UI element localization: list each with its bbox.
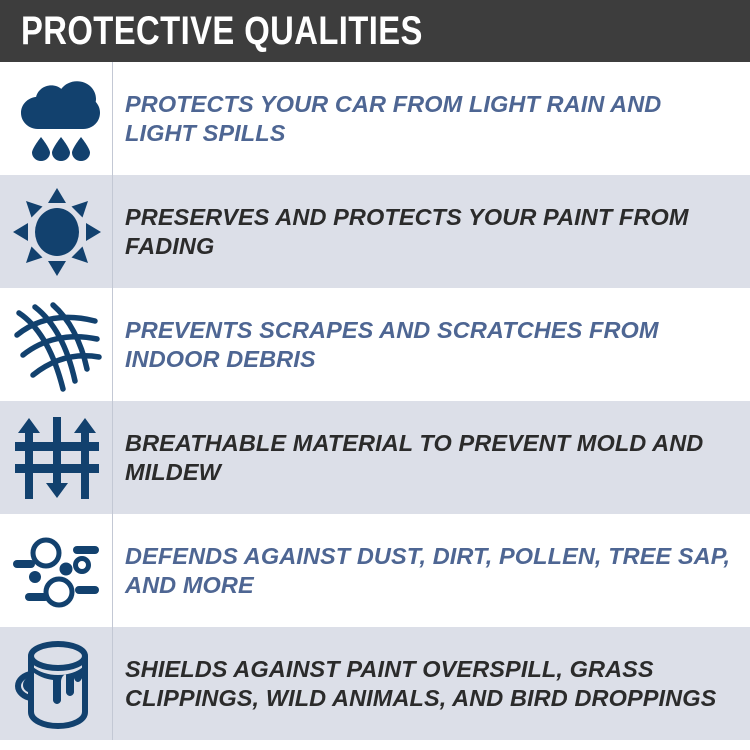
text-cell: BREATHABLE MATERIAL TO PREVENT MOLD AND … bbox=[113, 401, 750, 514]
rain-cloud-icon bbox=[14, 77, 100, 161]
icon-cell bbox=[0, 62, 113, 175]
icon-cell bbox=[0, 514, 113, 627]
list-item-label: BREATHABLE MATERIAL TO PREVENT MOLD AND … bbox=[125, 429, 732, 487]
row-divider bbox=[112, 627, 113, 740]
dust-particles-icon bbox=[11, 529, 103, 613]
protective-qualities-infographic: PROTECTIVE QUALITIES PROTECTS YOUR CAR F… bbox=[0, 0, 750, 750]
list-item-label: DEFENDS AGAINST DUST, DIRT, POLLEN, TREE… bbox=[125, 542, 732, 600]
row-divider bbox=[112, 62, 113, 175]
list-item-label: PRESERVES AND PROTECTS YOUR PAINT FROM F… bbox=[125, 203, 732, 261]
row-divider bbox=[112, 288, 113, 401]
list-item: PRESERVES AND PROTECTS YOUR PAINT FROM F… bbox=[0, 175, 750, 288]
list-item: PREVENTS SCRAPES AND SCRATCHES FROM INDO… bbox=[0, 288, 750, 401]
paint-bucket-icon bbox=[12, 636, 102, 732]
list-item: SHIELDS AGAINST PAINT OVERSPILL, GRASS C… bbox=[0, 627, 750, 740]
text-cell: PREVENTS SCRAPES AND SCRATCHES FROM INDO… bbox=[113, 288, 750, 401]
sun-icon bbox=[13, 188, 101, 276]
list-item: DEFENDS AGAINST DUST, DIRT, POLLEN, TREE… bbox=[0, 514, 750, 627]
text-cell: DEFENDS AGAINST DUST, DIRT, POLLEN, TREE… bbox=[113, 514, 750, 627]
icon-cell bbox=[0, 627, 113, 740]
list-item-label: PROTECTS YOUR CAR FROM LIGHT RAIN AND LI… bbox=[125, 90, 732, 148]
text-cell: SHIELDS AGAINST PAINT OVERSPILL, GRASS C… bbox=[113, 627, 750, 740]
row-divider bbox=[112, 175, 113, 288]
scratch-mesh-icon bbox=[11, 297, 103, 393]
breathable-airflow-icon bbox=[13, 414, 101, 502]
text-cell: PRESERVES AND PROTECTS YOUR PAINT FROM F… bbox=[113, 175, 750, 288]
list-item-label: SHIELDS AGAINST PAINT OVERSPILL, GRASS C… bbox=[125, 655, 732, 713]
row-divider bbox=[112, 514, 113, 627]
icon-cell bbox=[0, 288, 113, 401]
text-cell: PROTECTS YOUR CAR FROM LIGHT RAIN AND LI… bbox=[113, 62, 750, 175]
page-title: PROTECTIVE QUALITIES bbox=[21, 11, 423, 51]
list-item: BREATHABLE MATERIAL TO PREVENT MOLD AND … bbox=[0, 401, 750, 514]
header-bar: PROTECTIVE QUALITIES bbox=[0, 0, 750, 62]
icon-cell bbox=[0, 175, 113, 288]
icon-cell bbox=[0, 401, 113, 514]
list-item: PROTECTS YOUR CAR FROM LIGHT RAIN AND LI… bbox=[0, 62, 750, 175]
feature-list: PROTECTS YOUR CAR FROM LIGHT RAIN AND LI… bbox=[0, 62, 750, 740]
list-item-label: PREVENTS SCRAPES AND SCRATCHES FROM INDO… bbox=[125, 316, 732, 374]
row-divider bbox=[112, 401, 113, 514]
bottom-strip bbox=[0, 740, 750, 750]
